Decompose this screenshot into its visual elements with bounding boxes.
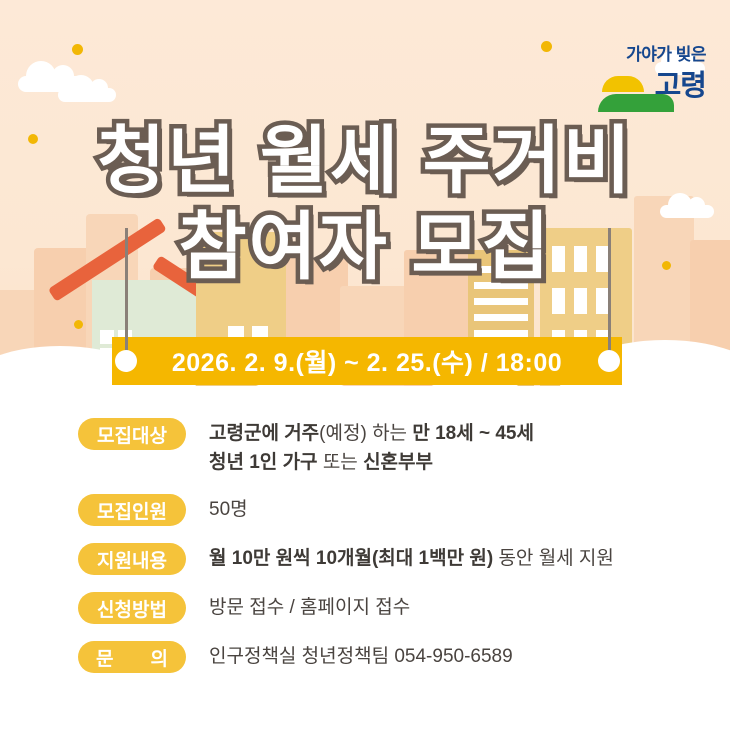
- goryeong-logo: 가야가 빚은 고령: [586, 40, 706, 106]
- building-right-window-r1c1: [552, 246, 565, 272]
- target-bold-a: 고령군에 거주: [209, 423, 319, 444]
- info-value-target-line2: 청년 1인 가구 또는 신혼부부: [209, 448, 534, 477]
- info-value-method: 방문 접수 / 홈페이지 접수: [209, 592, 410, 622]
- info-label-target: 모집대상: [78, 418, 186, 450]
- target-bold-b: 만 18세 ~ 45세: [412, 423, 534, 444]
- info-label-inquiry: 문의: [78, 641, 186, 673]
- info-value-count: 50명: [209, 494, 248, 524]
- pin-marker-right-over: [598, 350, 620, 372]
- target-reg-b: 또는: [323, 452, 363, 473]
- decorative-dot-4: [662, 261, 671, 270]
- building-right-window-r2c1: [552, 288, 565, 314]
- decorative-dot-1: [72, 44, 83, 55]
- building-stripe-3: [474, 298, 528, 305]
- info-value-support: 월 10만 원씩 10개월(최대 1백만 원) 동안 월세 지원: [209, 543, 614, 573]
- info-row-count: 모집인원 50명: [78, 494, 678, 526]
- info-label-support: 지원내용: [78, 543, 186, 575]
- inquiry-label-char-1: 문: [96, 644, 113, 671]
- target-bold-d: 신혼부부: [363, 452, 433, 473]
- support-reg: 동안 월세 지원: [493, 548, 614, 569]
- date-banner-text: 2026. 2. 9.(월) ~ 2. 25.(수) / 18:00: [112, 337, 622, 385]
- target-reg-a: (예정) 하는: [319, 423, 412, 444]
- building-stripe-1: [474, 266, 528, 273]
- date-banner: 2026. 2. 9.(월) ~ 2. 25.(수) / 18:00: [112, 337, 622, 385]
- info-row-target: 모집대상 고령군에 거주(예정) 하는 만 18세 ~ 45세 청년 1인 가구…: [78, 418, 678, 477]
- info-list: 모집대상 고령군에 거주(예정) 하는 만 18세 ~ 45세 청년 1인 가구…: [78, 418, 678, 690]
- info-label-count: 모집인원: [78, 494, 186, 526]
- info-value-target-line1: 고령군에 거주(예정) 하는 만 18세 ~ 45세: [209, 419, 534, 448]
- info-row-support: 지원내용 월 10만 원씩 10개월(최대 1백만 원) 동안 월세 지원: [78, 543, 678, 575]
- info-value-target: 고령군에 거주(예정) 하는 만 18세 ~ 45세 청년 1인 가구 또는 신…: [209, 418, 534, 477]
- poster-canvas: 청년 월세 주거비 참여자 모집 2026. 2. 9.(월) ~ 2. 25.…: [0, 0, 730, 731]
- inquiry-label-char-2: 의: [151, 644, 168, 671]
- building-stripe-5: [474, 330, 528, 337]
- building-right-window-r1c2: [574, 246, 587, 272]
- info-label-method: 신청방법: [78, 592, 186, 624]
- decorative-dot-house: [74, 320, 83, 329]
- decorative-dot-2: [541, 41, 552, 52]
- info-row-method: 신청방법 방문 접수 / 홈페이지 접수: [78, 592, 678, 624]
- pin-marker-left-over: [115, 350, 137, 372]
- info-value-inquiry: 인구정책실 청년정책팀 054-950-6589: [209, 641, 513, 671]
- cloud-icon-2: [58, 88, 116, 102]
- logo-name: 고령: [586, 62, 706, 104]
- building-right-window-r2c2: [574, 288, 587, 314]
- target-bold-c: 청년 1인 가구: [209, 452, 323, 473]
- info-row-inquiry: 문의 인구정책실 청년정책팀 054-950-6589: [78, 641, 678, 673]
- building-stripe-2: [474, 282, 528, 289]
- building-stripe-4: [474, 314, 528, 321]
- support-bold: 월 10만 원씩 10개월(최대 1백만 원): [209, 548, 493, 569]
- decorative-dot-3: [28, 134, 38, 144]
- cloud-icon-4: [660, 205, 714, 218]
